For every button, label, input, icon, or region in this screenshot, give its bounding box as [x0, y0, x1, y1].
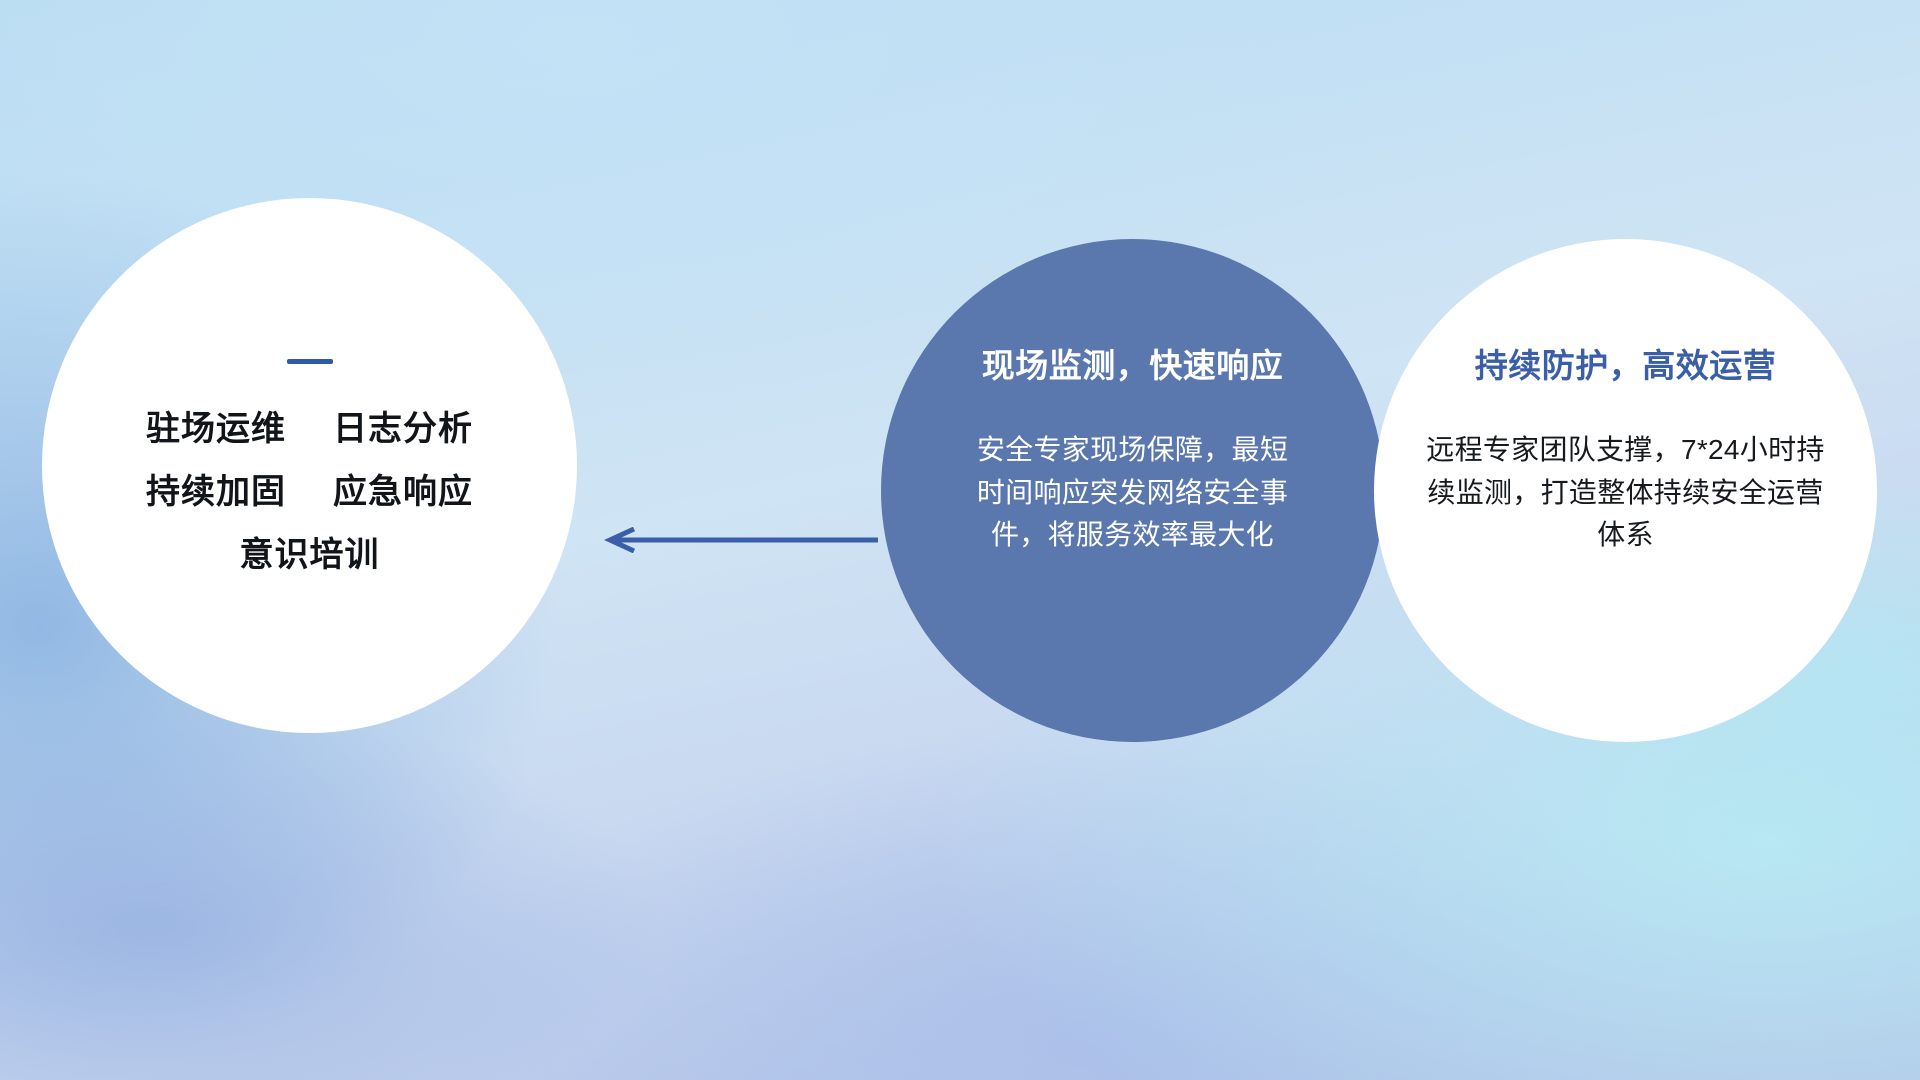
middle-card-body: 安全专家现场保障，最短时间响应突发网络安全事件，将服务效率最大化	[968, 429, 1298, 557]
middle-onsite-circle[interactable]: 现场监测，快速响应 安全专家现场保障，最短时间响应突发网络安全事件，将服务效率最…	[881, 239, 1384, 742]
left-services-circle[interactable]: 驻场运维 日志分析 持续加固 应急响应 意识培训	[42, 198, 577, 733]
list-item: 意识培训	[240, 538, 380, 572]
arrow-left-icon	[600, 527, 880, 553]
right-card-body: 远程专家团队支撑，7*24小时持续监测，打造整体持续安全运营体系	[1416, 429, 1836, 557]
service-label: 应急响应	[333, 473, 473, 511]
service-label: 驻场运维	[146, 410, 286, 448]
list-item: 持续加固 应急响应	[146, 475, 473, 509]
slide-canvas: 驻场运维 日志分析 持续加固 应急响应 意识培训 现场监测，快速响应 安全专家现…	[0, 0, 1920, 1080]
right-card-title: 持续防护，高效运营	[1475, 339, 1777, 387]
service-label: 持续加固	[146, 473, 286, 511]
middle-card-title: 现场监测，快速响应	[982, 339, 1284, 387]
divider-dash	[287, 359, 333, 364]
service-label: 日志分析	[333, 410, 473, 448]
flow-arrow-left	[600, 527, 880, 553]
right-continuous-circle[interactable]: 持续防护，高效运营 远程专家团队支撑，7*24小时持续监测，打造整体持续安全运营…	[1374, 239, 1877, 742]
left-services-list: 驻场运维 日志分析 持续加固 应急响应 意识培训	[42, 412, 577, 572]
list-item: 驻场运维 日志分析	[146, 412, 473, 446]
service-label: 意识培训	[240, 536, 380, 574]
